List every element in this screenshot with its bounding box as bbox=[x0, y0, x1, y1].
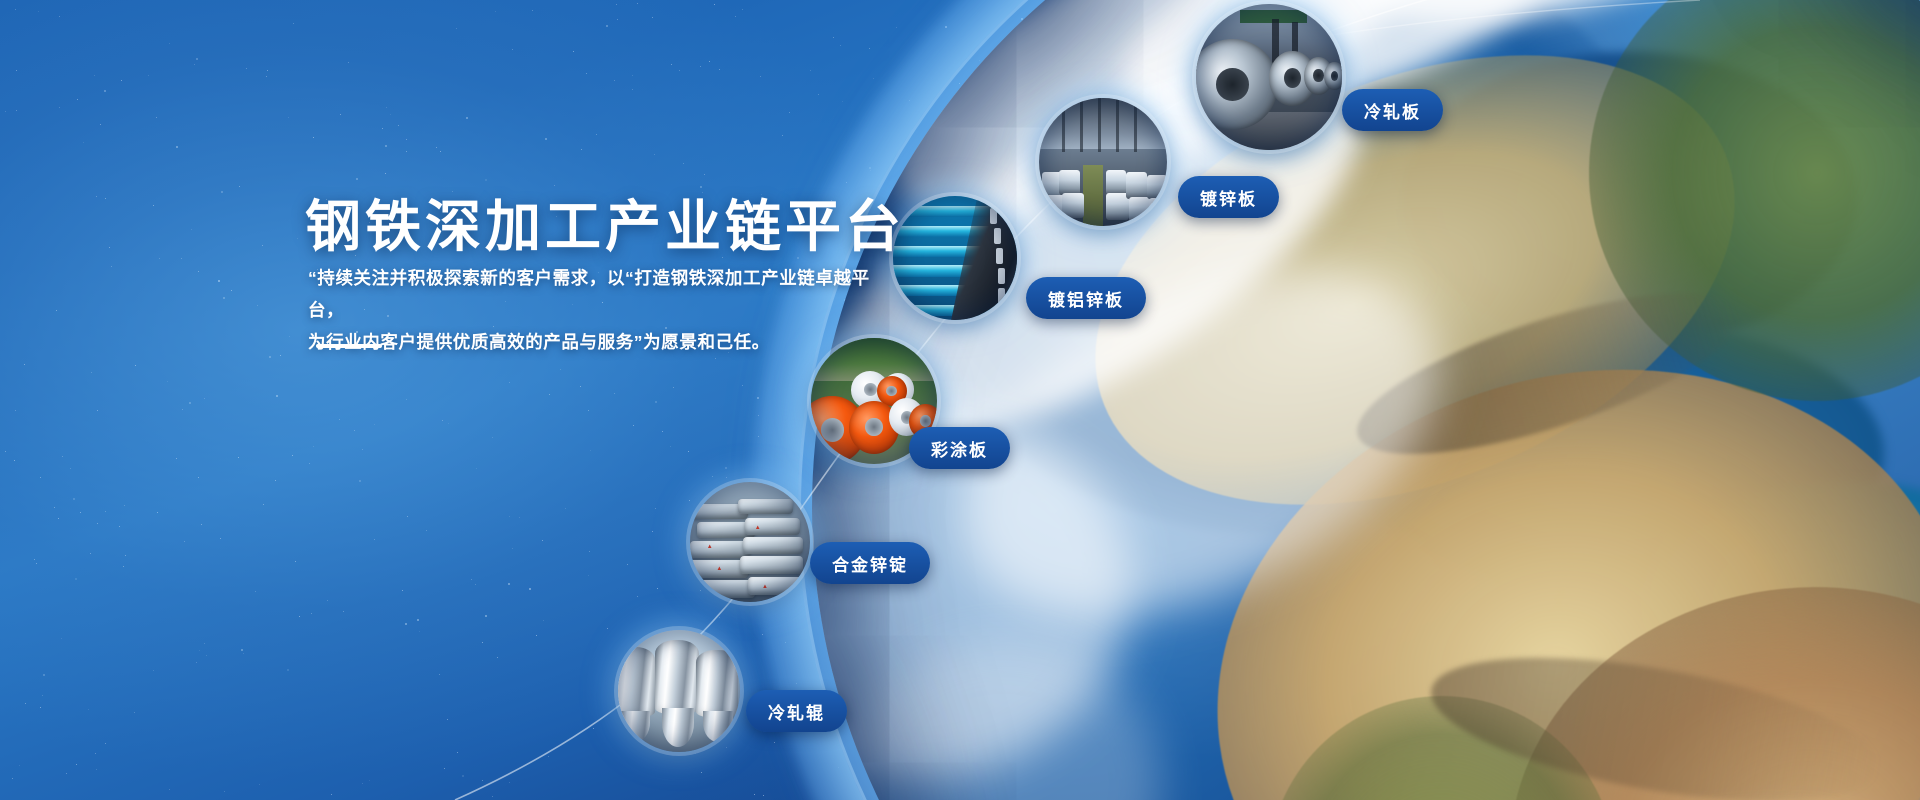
product-thumb-galvalume-plate[interactable] bbox=[893, 196, 1017, 320]
thumb-vignette bbox=[1196, 4, 1342, 150]
product-label-text: 镀铝锌板 bbox=[1048, 286, 1124, 311]
product-label-galvanized-plate[interactable]: 镀锌板 bbox=[1178, 176, 1279, 218]
product-label-color-coated-plate[interactable]: 彩涂板 bbox=[909, 427, 1010, 469]
page-subtitle: “持续关注并积极探索新的客户需求，以“打造钢铁深加工产业链卓越平台， 为行业内客… bbox=[308, 262, 878, 358]
page-title: 钢铁深加工产业链平台 bbox=[305, 182, 905, 263]
subtitle-line-2: 为行业内客户提供优质高效的产品与服务”为愿景和己任。 bbox=[308, 326, 878, 358]
product-thumb-galvanized-plate[interactable] bbox=[1039, 98, 1167, 226]
product-label-galvalume-plate[interactable]: 镀铝锌板 bbox=[1026, 277, 1146, 319]
product-label-text: 彩涂板 bbox=[931, 436, 988, 461]
product-thumb-cold-rolled-plate[interactable] bbox=[1196, 4, 1342, 150]
product-label-text: 镀锌板 bbox=[1200, 185, 1257, 210]
product-label-cold-rolling-roll[interactable]: 冷轧辊 bbox=[746, 690, 847, 732]
subtitle-line-1: “持续关注并积极探索新的客户需求，以“打造钢铁深加工产业链卓越平台， bbox=[308, 262, 878, 326]
product-label-zinc-alloy-ingot[interactable]: 合金锌锭 bbox=[810, 542, 930, 584]
product-label-text: 冷轧板 bbox=[1364, 98, 1421, 123]
thumb-vignette bbox=[1039, 98, 1167, 226]
title-divider-rule bbox=[316, 344, 382, 348]
thumb-vignette bbox=[618, 630, 740, 752]
product-label-text: 合金锌锭 bbox=[832, 551, 908, 576]
product-thumb-zinc-alloy-ingot[interactable]: ▲ ▲ ▲ ▲ bbox=[690, 482, 810, 602]
product-label-text: 冷轧辊 bbox=[768, 699, 825, 724]
hero-banner: 冷轧板 镀锌板 bbox=[0, 0, 1920, 800]
product-thumb-cold-rolling-roll[interactable] bbox=[618, 630, 740, 752]
product-label-cold-rolled-plate[interactable]: 冷轧板 bbox=[1342, 89, 1443, 131]
thumb-vignette bbox=[893, 196, 1017, 320]
thumb-vignette bbox=[690, 482, 810, 602]
